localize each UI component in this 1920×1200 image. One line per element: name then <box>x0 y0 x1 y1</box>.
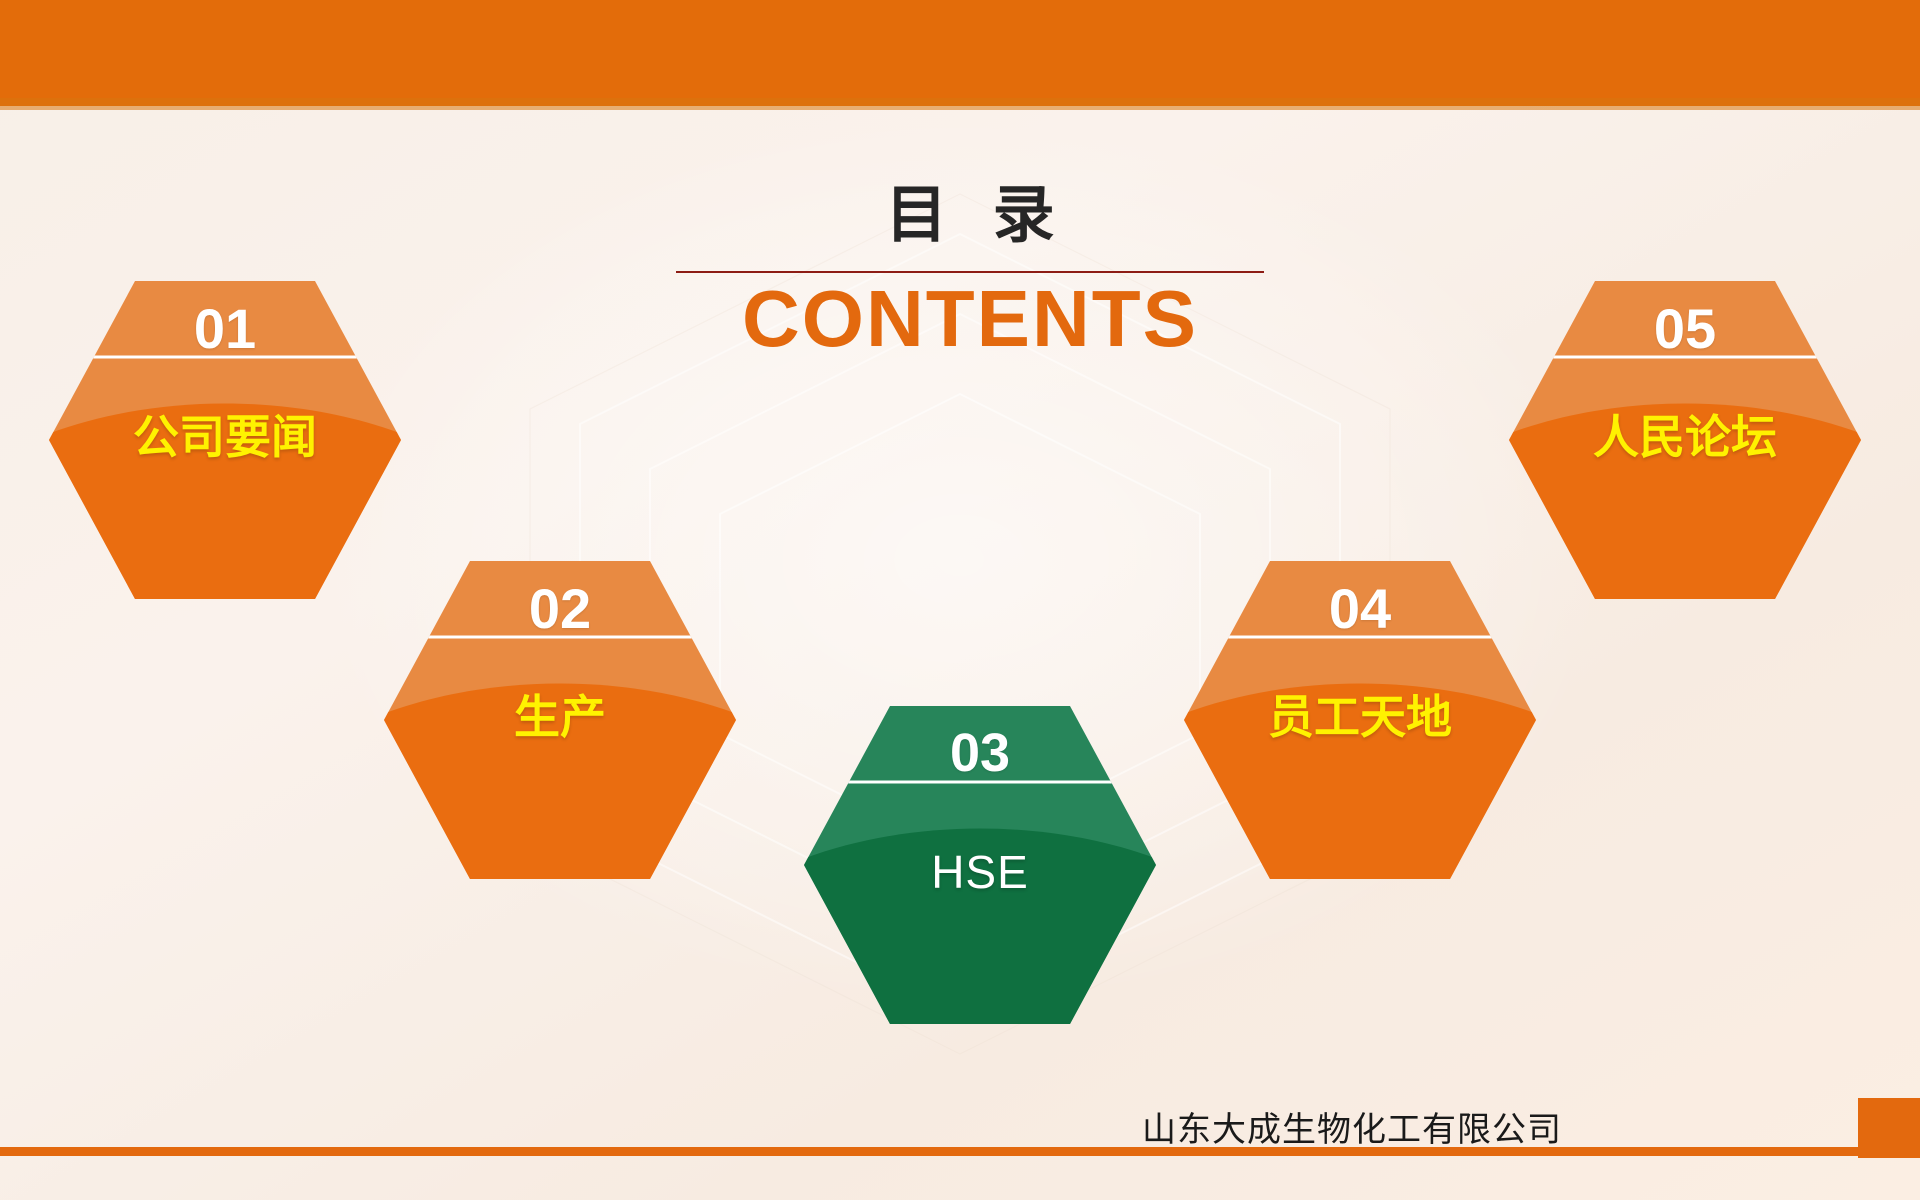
title-divider <box>676 271 1264 273</box>
title-english: CONTENTS <box>660 277 1280 362</box>
top-accent-bar <box>0 0 1920 106</box>
title-chinese: 目 录 <box>660 185 1280 247</box>
footer-company-name: 山东大成生物化工有限公司 <box>1142 1102 1562 1151</box>
contents-item-01[interactable]: 01 公司要闻 <box>45 275 405 605</box>
top-accent-bar-edge <box>0 98 1920 110</box>
contents-item-05[interactable]: 05 人民论坛 <box>1505 275 1865 605</box>
page-title: 目 录 CONTENTS <box>660 185 1280 362</box>
footer-divider <box>0 1147 1920 1156</box>
footer-accent-swatch <box>1858 1098 1920 1158</box>
slide-canvas: 目 录 CONTENTS 01 公司要闻 <box>0 0 1920 1200</box>
contents-item-03[interactable]: 03 HSE <box>800 700 1160 1030</box>
contents-item-04[interactable]: 04 员工天地 <box>1180 555 1540 885</box>
contents-item-02[interactable]: 02 生产 <box>380 555 740 885</box>
